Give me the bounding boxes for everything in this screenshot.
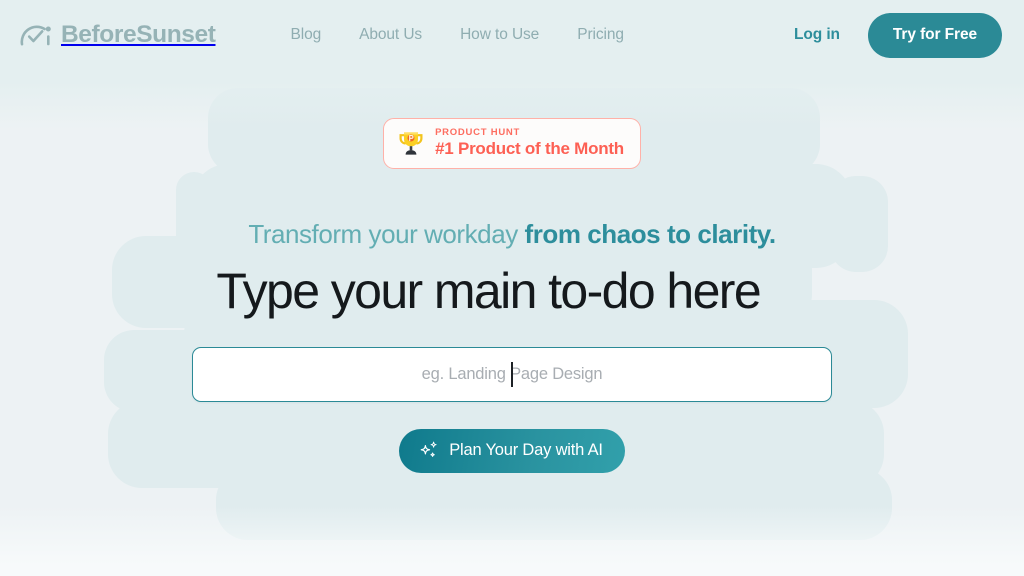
footer-gradient-wash xyxy=(0,506,1024,576)
nav-link-about-us[interactable]: About Us xyxy=(340,20,441,50)
nav-link-how-to-use[interactable]: How to Use xyxy=(441,20,558,50)
product-hunt-badge[interactable]: PRODUCT HUNT #1 Product of the Month xyxy=(383,118,641,169)
main-navigation: Blog About Us How to Use Pricing xyxy=(272,20,643,50)
hero-section: PRODUCT HUNT #1 Product of the Month Tra… xyxy=(0,70,1024,473)
log-in-link[interactable]: Log in xyxy=(794,26,840,44)
plan-day-button-label: Plan Your Day with AI xyxy=(449,441,603,460)
text-caret xyxy=(511,362,513,387)
try-for-free-button[interactable]: Try for Free xyxy=(868,13,1002,58)
header-actions: Log in Try for Free xyxy=(794,13,1002,58)
page-title: Type your main to-do here  xyxy=(216,264,807,318)
hero-heading-text: Type your main to-do here xyxy=(216,263,760,319)
background-blob xyxy=(216,468,892,540)
logo-wordmark: BeforeSunset xyxy=(61,21,216,49)
badge-title: #1 Product of the Month xyxy=(435,139,624,159)
sparkles-icon xyxy=(418,440,440,462)
hero-eyebrow-strong: from chaos to clarity. xyxy=(525,219,776,249)
pointing-down-emoji:  xyxy=(772,269,807,318)
trophy-icon xyxy=(397,129,425,157)
plan-your-day-with-ai-button[interactable]: Plan Your Day with AI xyxy=(399,429,625,473)
badge-text-group: PRODUCT HUNT #1 Product of the Month xyxy=(435,128,624,159)
todo-input-container xyxy=(192,347,832,402)
badge-kicker: PRODUCT HUNT xyxy=(435,128,624,138)
nav-link-blog[interactable]: Blog xyxy=(272,20,341,50)
sunset-arc-check-icon xyxy=(20,24,54,46)
site-header: BeforeSunset Blog About Us How to Use Pr… xyxy=(0,0,1024,70)
hero-eyebrow-light: Transform your workday xyxy=(248,219,517,249)
nav-link-pricing[interactable]: Pricing xyxy=(558,20,643,50)
hero-eyebrow: Transform your workday from chaos to cla… xyxy=(248,221,775,247)
logo-home-link[interactable]: BeforeSunset xyxy=(20,21,216,49)
